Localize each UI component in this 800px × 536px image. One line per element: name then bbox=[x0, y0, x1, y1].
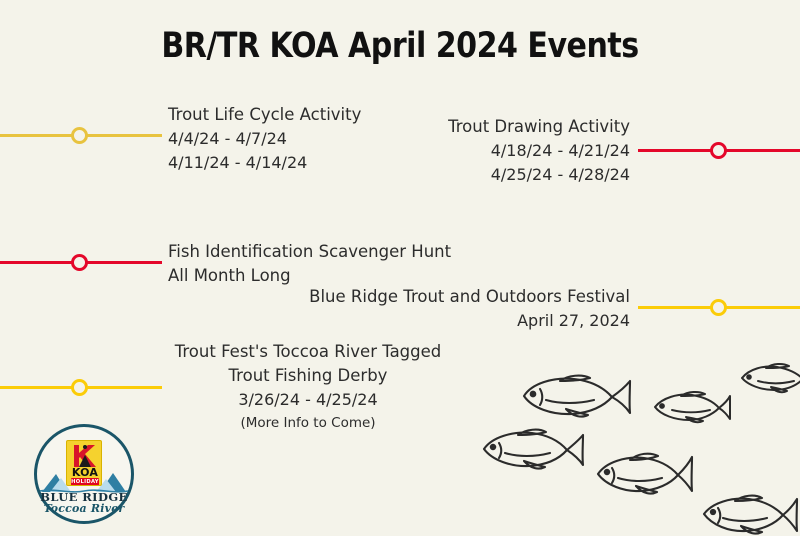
event-5-title-line-2: Trout Fishing Derby bbox=[168, 364, 448, 388]
page-title: BR/TR KOA April 2024 Events bbox=[56, 26, 744, 66]
event-5-note: (More Info to Come) bbox=[168, 412, 448, 434]
fish-illustration-3 bbox=[738, 360, 800, 396]
poster-canvas: BR/TR KOA April 2024 Events Trout Life C… bbox=[0, 0, 800, 530]
timeline-node-3 bbox=[71, 254, 88, 271]
event-5-date-line-1: 3/26/24 - 4/25/24 bbox=[168, 388, 448, 412]
timeline-node-5 bbox=[71, 379, 88, 396]
fish-illustration-1 bbox=[516, 370, 634, 422]
koa-badge: KOA HOLIDAY bbox=[66, 440, 102, 486]
timeline-node-1 bbox=[71, 127, 88, 144]
timeline-node-2 bbox=[710, 142, 727, 159]
fish-illustration-4 bbox=[478, 425, 586, 473]
fish-illustration-5 bbox=[592, 450, 694, 498]
event-4-date-line-1: April 27, 2024 bbox=[280, 309, 630, 333]
event-2-title: Trout Drawing Activity bbox=[300, 115, 630, 139]
koa-tier-label: HOLIDAY bbox=[71, 478, 99, 486]
event-3-title: Fish Identification Scavenger Hunt bbox=[168, 240, 528, 264]
koa-logo[interactable]: KOA HOLIDAY BLUE RIDGE Toccoa River bbox=[34, 424, 134, 524]
event-5-title-line-1: Trout Fest's Toccoa River Tagged bbox=[168, 340, 448, 364]
koa-wordmark: KOA bbox=[67, 467, 102, 478]
event-3: Fish Identification Scavenger Hunt All M… bbox=[168, 240, 528, 288]
event-2-date-line-2: 4/25/24 - 4/28/24 bbox=[300, 163, 630, 187]
timeline-node-4 bbox=[710, 299, 727, 316]
event-2: Trout Drawing Activity 4/18/24 - 4/21/24… bbox=[300, 115, 630, 187]
fish-illustration-6 bbox=[698, 492, 798, 536]
fish-illustration-2 bbox=[650, 388, 732, 426]
logo-park-sub: Toccoa River bbox=[34, 502, 134, 515]
event-4: Blue Ridge Trout and Outdoors Festival A… bbox=[280, 285, 630, 333]
event-5: Trout Fest's Toccoa River Tagged Trout F… bbox=[168, 340, 448, 434]
event-2-date-line-1: 4/18/24 - 4/21/24 bbox=[300, 139, 630, 163]
event-4-title: Blue Ridge Trout and Outdoors Festival bbox=[280, 285, 630, 309]
